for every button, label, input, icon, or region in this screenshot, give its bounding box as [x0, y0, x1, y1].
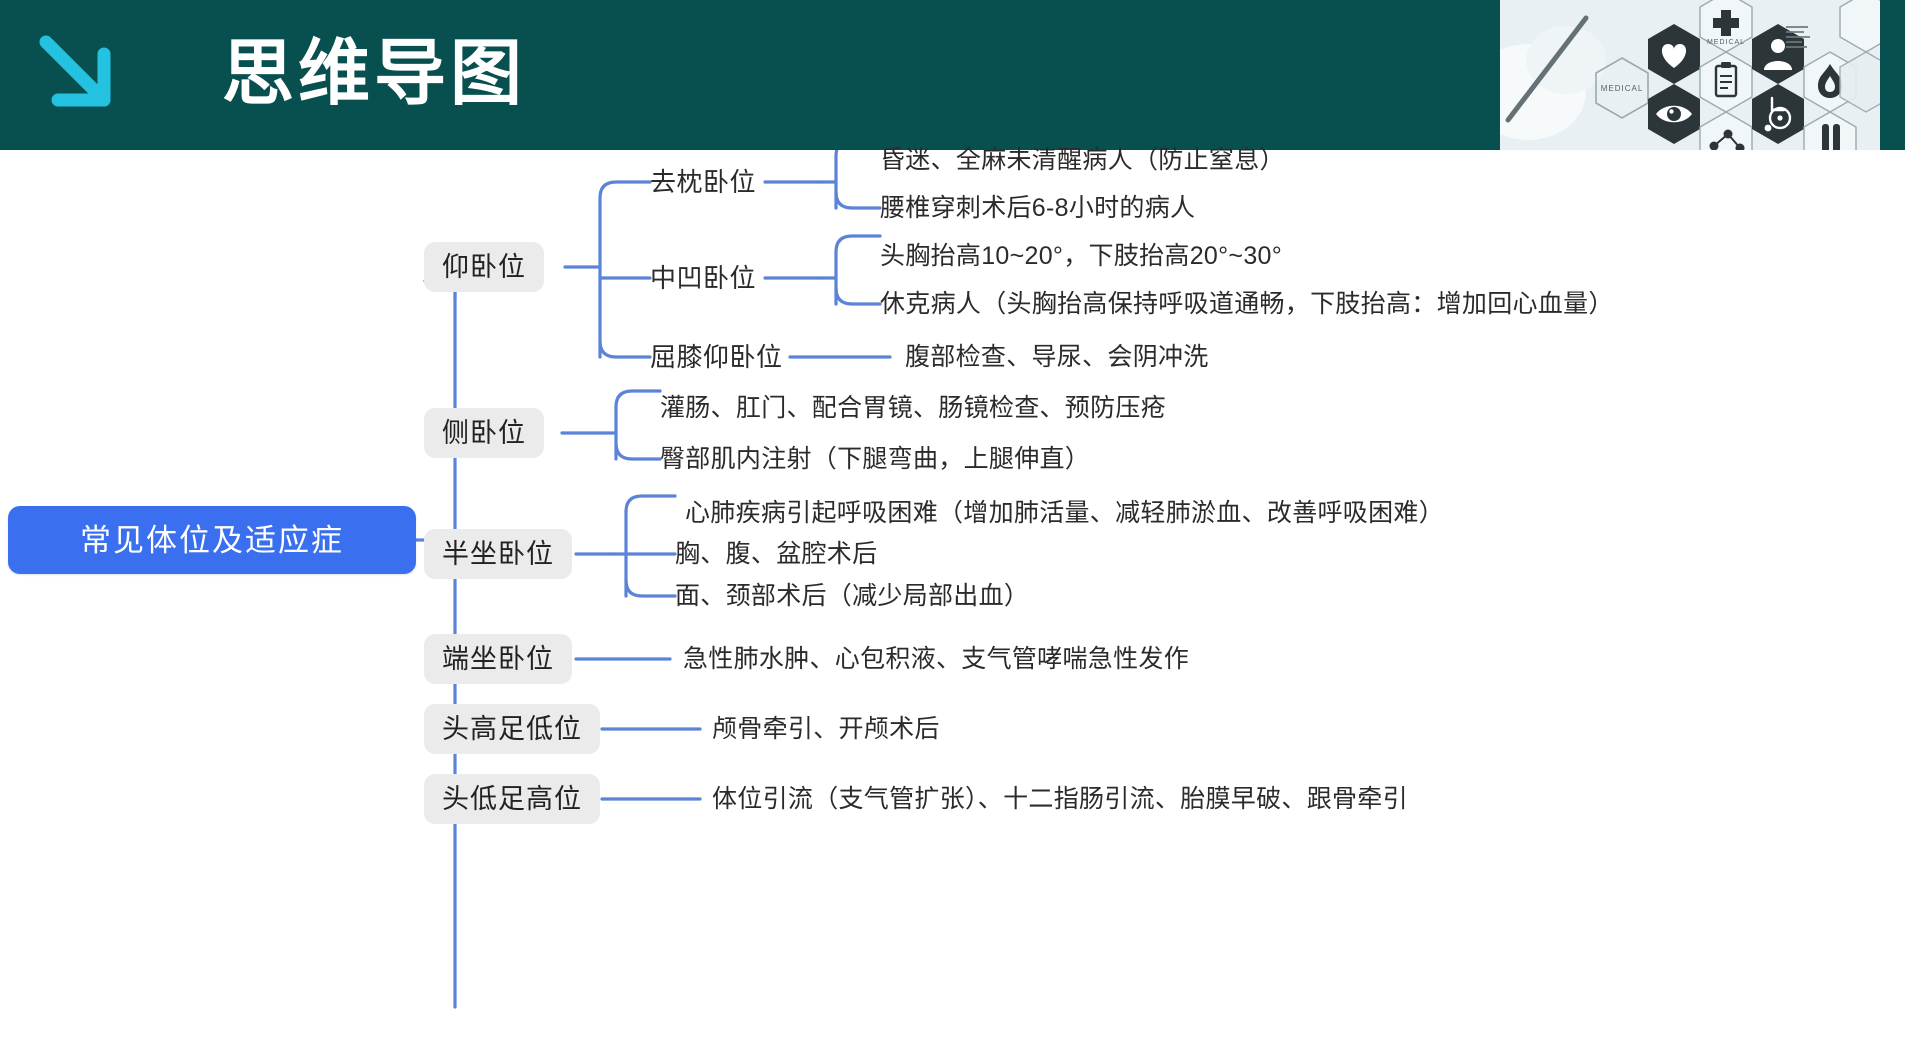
leaf-node[interactable]: 心肺疾病引起呼吸困难（增加肺活量、减轻肺淤血、改善呼吸困难）: [685, 496, 1444, 530]
leaf-node[interactable]: 腰椎穿刺术后6-8小时的病人: [880, 191, 1195, 225]
leaf-node[interactable]: 急性肺水肿、心包积液、支气管哮喘急性发作: [683, 642, 1189, 676]
leaf-node[interactable]: 腹部检查、导尿、会阴冲洗: [905, 340, 1209, 374]
leaf-label: 腹部检查、导尿、会阴冲洗: [905, 345, 1209, 370]
leaf-label: 颅骨牵引、开颅术后: [712, 717, 940, 742]
branch-node-tougaozudiwei[interactable]: 头高足低位: [424, 704, 600, 754]
leaf-label: 灌肠、肛门、配合胃镜、肠镜检查、预防压疮: [660, 396, 1166, 421]
page-title: 思维导图: [222, 22, 526, 126]
svg-text:MEDICAL: MEDICAL: [1601, 84, 1644, 93]
sub-node-zhongaowowei[interactable]: 中凹卧位: [650, 260, 756, 296]
branch-label: 端坐卧位: [442, 646, 554, 673]
leaf-label: 急性肺水肿、心包积液、支气管哮喘急性发作: [683, 647, 1189, 672]
branch-node-duanzuowowei[interactable]: 端坐卧位: [424, 634, 572, 684]
leaf-label: 腰椎穿刺术后6-8小时的病人: [880, 196, 1195, 221]
branch-node-toudizugaowei[interactable]: 头低足高位: [424, 774, 600, 824]
sub-node-label: 屈膝仰卧位: [650, 344, 783, 370]
root-label: 常见体位及适应症: [80, 525, 344, 556]
leaf-node[interactable]: 灌肠、肛门、配合胃镜、肠镜检查、预防压疮: [660, 391, 1166, 425]
svg-text:MEDICAL: MEDICAL: [1707, 39, 1745, 46]
branch-label: 仰卧位: [442, 254, 526, 281]
branch-node-yangwowei[interactable]: 仰卧位: [424, 242, 544, 292]
branch-label: 侧卧位: [442, 420, 526, 447]
leaf-node[interactable]: 胸、腹、盆腔术后: [675, 537, 877, 571]
branch-label: 头高足低位: [442, 716, 582, 743]
leaf-node[interactable]: 体位引流（支气管扩张）、十二指肠引流、胎膜早破、跟骨牵引: [712, 782, 1408, 816]
sub-node-label: 中凹卧位: [650, 265, 756, 291]
medical-hexagon-banner-image: MEDICAL: [1500, 0, 1880, 150]
branch-label: 头低足高位: [442, 786, 582, 813]
leaf-label: 头胸抬高10~20°，下肢抬高20°~30°: [880, 244, 1282, 269]
leaf-label: 体位引流（支气管扩张）、十二指肠引流、胎膜早破、跟骨牵引: [712, 787, 1408, 812]
branch-label: 半坐卧位: [442, 541, 554, 568]
branch-node-banzuowowei[interactable]: 半坐卧位: [424, 529, 572, 579]
sub-node-label: 去枕卧位: [650, 169, 756, 195]
leaf-label: 休克病人（头胸抬高保持呼吸道通畅，下肢抬高：增加回心血量）: [880, 292, 1614, 317]
leaf-node[interactable]: 面、颈部术后（减少局部出血）: [675, 579, 1029, 613]
leaf-label: 面、颈部术后（减少局部出血）: [675, 584, 1029, 609]
leaf-label: 胸、腹、盆腔术后: [675, 542, 877, 567]
leaf-label: 臀部肌内注射（下腿弯曲，上腿伸直）: [660, 447, 1090, 472]
sub-node-quzhenwowei[interactable]: 去枕卧位: [650, 164, 756, 200]
arrow-down-right-icon: [32, 28, 128, 124]
leaf-node[interactable]: 头胸抬高10~20°，下肢抬高20°~30°: [880, 239, 1282, 273]
mindmap-root-node[interactable]: 常见体位及适应症: [8, 506, 416, 574]
sub-node-qixiyangwowei[interactable]: 屈膝仰卧位: [650, 339, 783, 375]
leaf-node[interactable]: 昏迷、全麻未清醒病人（防止窒息）: [880, 143, 1285, 177]
mindmap-canvas: 常见体位及适应症 仰卧位 侧卧位 半坐卧位 端坐卧位 头高足低位 头低足高位 去…: [0, 150, 1905, 1045]
leaf-label: 心肺疾病引起呼吸困难（增加肺活量、减轻肺淤血、改善呼吸困难）: [685, 501, 1444, 526]
slide-header: 思维导图: [0, 0, 1905, 150]
slide-page: 思维导图: [0, 0, 1905, 1045]
leaf-node[interactable]: 臀部肌内注射（下腿弯曲，上腿伸直）: [660, 442, 1090, 476]
leaf-node[interactable]: 休克病人（头胸抬高保持呼吸道通畅，下肢抬高：增加回心血量）: [880, 287, 1614, 321]
branch-node-cewowei[interactable]: 侧卧位: [424, 408, 544, 458]
leaf-label: 昏迷、全麻未清醒病人（防止窒息）: [880, 148, 1285, 173]
leaf-node[interactable]: 颅骨牵引、开颅术后: [712, 712, 940, 746]
